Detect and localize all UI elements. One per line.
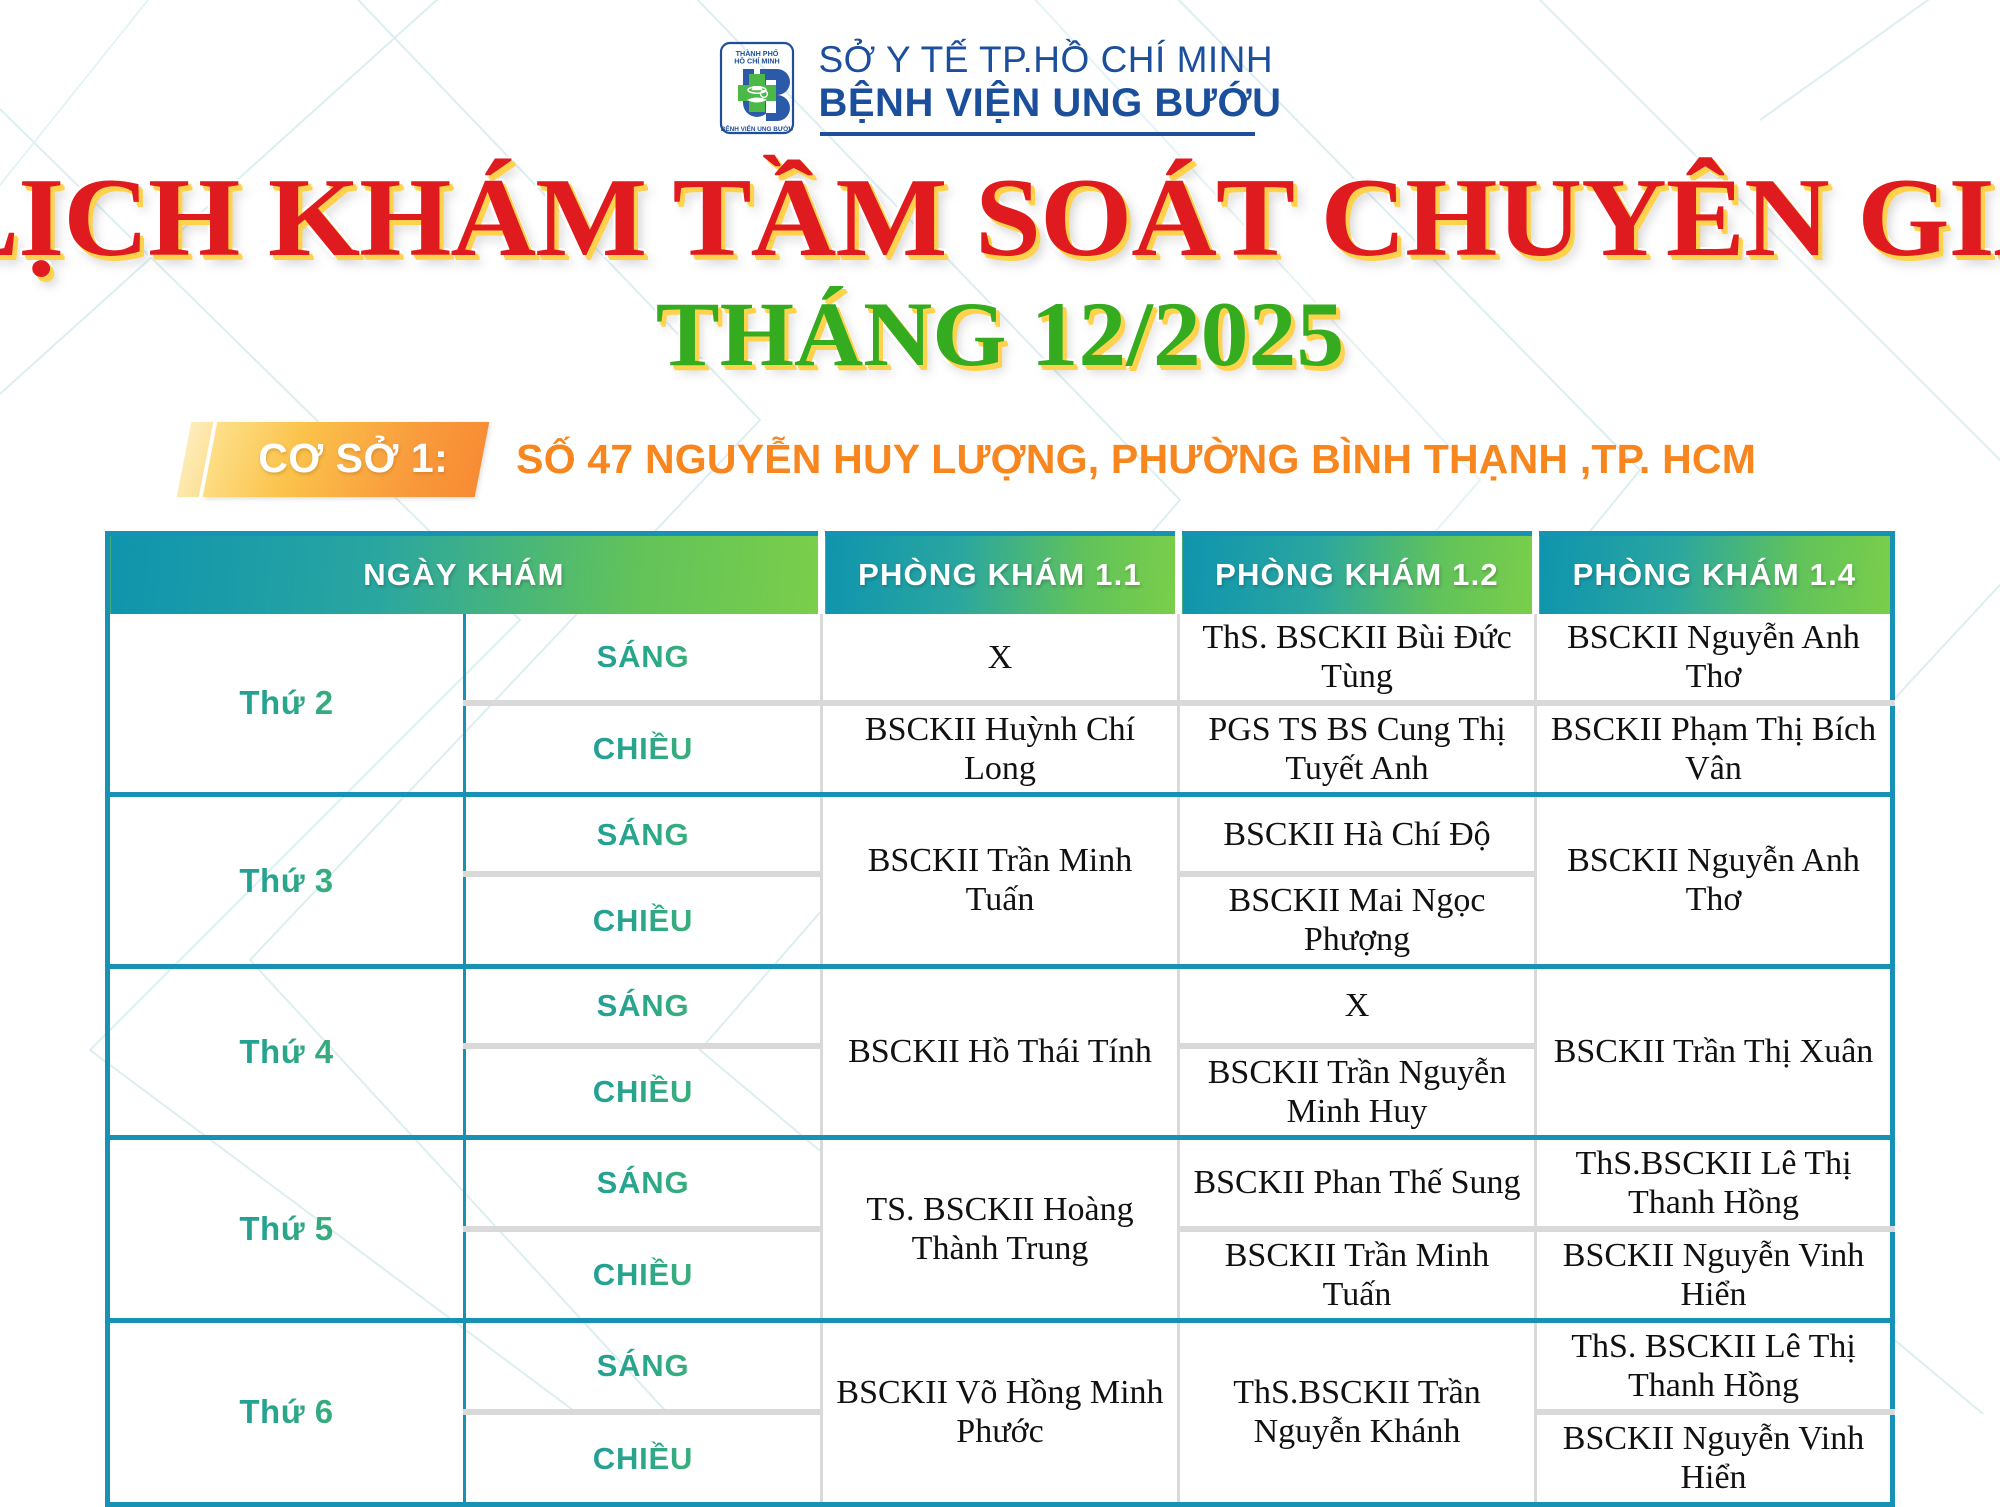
facility-badge-label: CƠ SỞ 1: [258, 435, 448, 482]
brand-divider [820, 132, 1255, 136]
table-row: Thứ 2SÁNGXThS. BSCKII Bùi Đức TùngBSCKII… [108, 614, 1893, 703]
cell-shift-afternoon-2: CHIỀU [465, 874, 822, 966]
cell-room12-afternoon-4: BSCKII Trần Minh Tuấn [1179, 1229, 1536, 1321]
cell-room11-morning-1: X [822, 614, 1179, 703]
cell-room14-afternoon-1: BSCKII Phạm Thị Bích Vân [1536, 703, 1893, 795]
cell-room11-morning-4: TS. BSCKII Hoàng Thành Trung [822, 1137, 1179, 1320]
cell-shift-afternoon-5: CHIỀU [465, 1412, 822, 1504]
cell-room12-morning-2: BSCKII Hà Chí Độ [1179, 795, 1536, 875]
table-row: Thứ 3SÁNGBSCKII Trần Minh TuấnBSCKII Hà … [108, 795, 1893, 875]
cell-room12-afternoon-3: BSCKII Trần Nguyễn Minh Huy [1179, 1046, 1536, 1138]
schedule-table: NGÀY KHÁM PHÒNG KHÁM 1.1 PHÒNG KHÁM 1.2 … [105, 531, 1895, 1507]
facility-badge: CƠ SỞ 1: [203, 422, 490, 497]
table-row: Thứ 6SÁNGBSCKII Võ Hồng Minh PhướcThS.BS… [108, 1321, 1893, 1413]
hospital-name: BỆNH VIỆN UNG BƯỚU [818, 80, 1281, 126]
schedule-table-wrap: NGÀY KHÁM PHÒNG KHÁM 1.1 PHÒNG KHÁM 1.2 … [105, 531, 1895, 1507]
column-header-day: NGÀY KHÁM [108, 534, 822, 615]
cell-room14-morning-2: BSCKII Nguyễn Anh Thơ [1536, 795, 1893, 966]
facility-bar: CƠ SỞ 1: SỐ 47 NGUYỄN HUY LƯỢNG, PHƯỜNG … [0, 422, 2000, 497]
brand-text: SỞ Y TẾ TP.HỒ CHÍ MINH BỆNH VIỆN UNG BƯỚ… [818, 40, 1281, 136]
cell-room11-afternoon-1: BSCKII Huỳnh Chí Long [822, 703, 1179, 795]
column-header-room-11: PHÒNG KHÁM 1.1 [822, 534, 1179, 615]
facility-address: SỐ 47 NGUYỄN HUY LƯỢNG, PHƯỜNG BÌNH THẠN… [516, 436, 1756, 483]
cell-room14-morning-1: BSCKII Nguyễn Anh Thơ [1536, 614, 1893, 703]
cell-room12-afternoon-1: PGS TS BS Cung Thị Tuyết Anh [1179, 703, 1536, 795]
table-row: Thứ 4SÁNGBSCKII Hồ Thái TínhXBSCKII Trần… [108, 966, 1893, 1046]
cell-room14-afternoon-4: BSCKII Nguyễn Vinh Hiển [1536, 1229, 1893, 1321]
cell-room11-morning-2: BSCKII Trần Minh Tuấn [822, 795, 1179, 966]
cell-day-2: Thứ 3 [108, 795, 465, 966]
cell-shift-morning-3: SÁNG [465, 966, 822, 1046]
title-block: LỊCH KHÁM TẦM SOÁT CHUYÊN GIA THÁNG 12/2… [0, 162, 2000, 380]
cell-room14-morning-5: ThS. BSCKII Lê Thị Thanh Hồng [1536, 1321, 1893, 1413]
table-row: Thứ 5SÁNGTS. BSCKII Hoàng Thành TrungBSC… [108, 1137, 1893, 1229]
cell-shift-morning-5: SÁNG [465, 1321, 822, 1413]
hospital-logo-icon: THÀNH PHỐ HỒ CHÍ MINH BỆNH VIỆN UNG BƯỚU [718, 40, 796, 136]
cell-shift-morning-1: SÁNG [465, 614, 822, 703]
schedule-body: Thứ 2SÁNGXThS. BSCKII Bùi Đức TùngBSCKII… [108, 614, 1893, 1504]
organization-name: SỞ Y TẾ TP.HỒ CHÍ MINH [818, 40, 1273, 80]
cell-shift-afternoon-4: CHIỀU [465, 1229, 822, 1321]
cell-room11-morning-5: BSCKII Võ Hồng Minh Phước [822, 1321, 1179, 1504]
cell-shift-afternoon-3: CHIỀU [465, 1046, 822, 1138]
table-header-row: NGÀY KHÁM PHÒNG KHÁM 1.1 PHÒNG KHÁM 1.2 … [108, 534, 1893, 615]
page-subtitle: THÁNG 12/2025 [0, 288, 2000, 380]
cell-room12-morning-4: BSCKII Phan Thế Sung [1179, 1137, 1536, 1229]
cell-room14-afternoon-5: BSCKII Nguyễn Vinh Hiển [1536, 1412, 1893, 1504]
column-header-room-14: PHÒNG KHÁM 1.4 [1536, 534, 1893, 615]
cell-day-1: Thứ 2 [108, 614, 465, 795]
cell-shift-afternoon-1: CHIỀU [465, 703, 822, 795]
cell-shift-morning-2: SÁNG [465, 795, 822, 875]
page-title: LỊCH KHÁM TẦM SOÁT CHUYÊN GIA [0, 162, 2000, 274]
cell-room14-morning-4: ThS.BSCKII Lê Thị Thanh Hồng [1536, 1137, 1893, 1229]
cell-room12-morning-3: X [1179, 966, 1536, 1046]
cell-room11-morning-3: BSCKII Hồ Thái Tính [822, 966, 1179, 1137]
cell-day-5: Thứ 6 [108, 1321, 465, 1504]
cell-room12-morning-1: ThS. BSCKII Bùi Đức Tùng [1179, 614, 1536, 703]
cell-room12-afternoon-2: BSCKII Mai Ngọc Phượng [1179, 874, 1536, 966]
cell-room14-morning-3: BSCKII Trần Thị Xuân [1536, 966, 1893, 1137]
cell-shift-morning-4: SÁNG [465, 1137, 822, 1229]
column-header-room-12: PHÒNG KHÁM 1.2 [1179, 534, 1536, 615]
brand-header: THÀNH PHỐ HỒ CHÍ MINH BỆNH VIỆN UNG BƯỚU… [0, 0, 2000, 136]
cell-day-4: Thứ 5 [108, 1137, 465, 1320]
svg-text:BỆNH VIỆN UNG BƯỚU: BỆNH VIỆN UNG BƯỚU [721, 124, 794, 133]
svg-text:HỒ CHÍ MINH: HỒ CHÍ MINH [735, 56, 781, 66]
poster-root: THÀNH PHỐ HỒ CHÍ MINH BỆNH VIỆN UNG BƯỚU… [0, 0, 2000, 1414]
cell-room12-morning-5: ThS.BSCKII Trần Nguyễn Khánh [1179, 1321, 1536, 1504]
cell-day-3: Thứ 4 [108, 966, 465, 1137]
